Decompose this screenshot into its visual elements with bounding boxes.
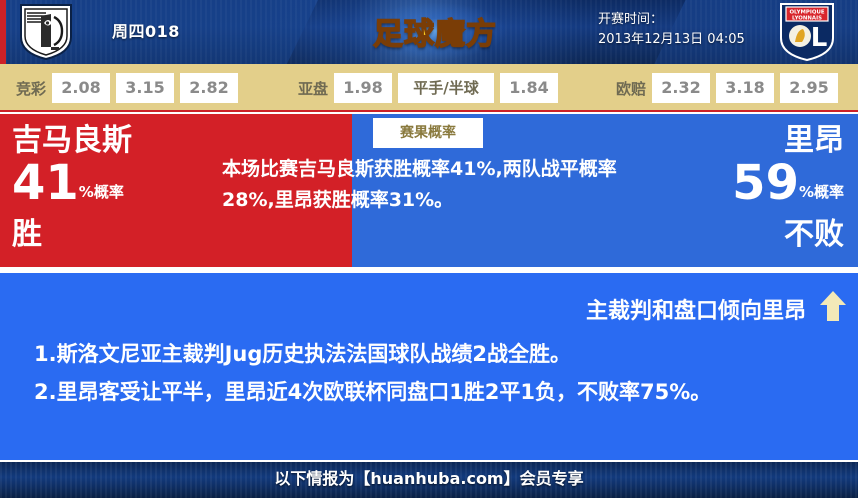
odds-label-yapan: 亚盘 (298, 78, 328, 99)
odds-cell-oupei-away[interactable]: 2.95 (780, 73, 838, 103)
home-probability-value-line: 41%概率 (12, 158, 172, 217)
home-probability-value: 41 (12, 155, 79, 211)
vitoria-guimaraes-crest (18, 3, 74, 61)
insight-line-1: 1.斯洛文尼亚主裁判Jug历史执法法国球队战绩2战全胜。 (34, 335, 824, 373)
arrow-up-icon (818, 290, 848, 322)
kickoff-value: 2013年12月13日 04:05 (598, 30, 774, 50)
brand-logo-text: 足球魔方 (360, 9, 510, 53)
odds-cell-oupei-home[interactable]: 2.32 (652, 73, 710, 103)
probability-description: 本场比赛吉马良斯获胜概率41%,两队战平概率28%,里昂获胜概率31%。 (222, 154, 622, 216)
odds-bottom-divider (0, 110, 858, 112)
odds-cell-oupei-draw[interactable]: 3.18 (716, 73, 774, 103)
insight-line-2: 2.里昂客受让平半，里昂近4次欧联杯同盘口1胜2平1负，不败率75%。 (34, 373, 824, 411)
svg-text:LYONNAIS: LYONNAIS (792, 16, 822, 22)
away-probability-block: 里昂 59%概率 不败 (664, 124, 844, 253)
svg-text:L: L (811, 23, 828, 53)
odds-label-jingcai: 竞彩 (16, 78, 46, 99)
odds-group-jingcai[interactable]: 竞彩 2.08 3.15 2.82 (16, 64, 244, 112)
olympique-lyonnais-crest: OLYMPIQUE LYONNAIS L (778, 2, 836, 62)
odds-cell-jingcai-away[interactable]: 2.82 (180, 73, 238, 103)
odds-cell-jingcai-draw[interactable]: 3.15 (116, 73, 174, 103)
insight-title: 主裁判和盘口倾向里昂 (586, 293, 806, 325)
odds-bar: 竞彩 2.08 3.15 2.82 亚盘 1.98 平手/半球 1.84 欧赔 … (0, 64, 858, 112)
odds-cell-yapan-away[interactable]: 1.84 (500, 73, 558, 103)
tab-result-probability[interactable]: 赛果概率 (373, 118, 483, 148)
home-outcome-label: 胜 (12, 217, 172, 253)
home-probability-unit: %概率 (79, 183, 124, 201)
soccer-prediction-infographic: 周四018 足球魔方 开赛时间： 2013年12月13日 04:05 OLYMP… (0, 0, 858, 498)
odds-cell-jingcai-home[interactable]: 2.08 (52, 73, 110, 103)
insight-body: 1.斯洛文尼亚主裁判Jug历史执法法国球队战绩2战全胜。 2.里昂客受让平半，里… (34, 335, 824, 411)
odds-group-oupei[interactable]: 欧赔 2.32 3.18 2.95 (616, 64, 844, 112)
home-probability-block: 吉马良斯 41%概率 胜 (12, 124, 172, 253)
odds-group-yapan[interactable]: 亚盘 1.98 平手/半球 1.84 (298, 64, 564, 112)
insight-panel: 主裁判和盘口倾向里昂 1.斯洛文尼亚主裁判Jug历史执法法国球队战绩2战全胜。 … (0, 273, 858, 460)
kickoff-label: 开赛时间： (598, 10, 774, 30)
odds-cell-yapan-home[interactable]: 1.98 (334, 73, 392, 103)
match-header: 周四018 足球魔方 开赛时间： 2013年12月13日 04:05 OLYMP… (0, 0, 858, 64)
odds-cell-yapan-handicap[interactable]: 平手/半球 (398, 73, 494, 103)
odds-label-oupei: 欧赔 (616, 78, 646, 99)
kickoff-time: 开赛时间： 2013年12月13日 04:05 (598, 10, 774, 50)
away-probability-unit: %概率 (799, 183, 844, 201)
footer-bar: 以下情报为【huanhuba.com】会员专享 (0, 460, 858, 498)
header-red-edge (0, 0, 6, 64)
home-team-name: 吉马良斯 (12, 124, 172, 158)
away-team-name: 里昂 (664, 124, 844, 158)
brand-logo[interactable]: 足球魔方 (360, 1, 510, 61)
away-outcome-label: 不败 (664, 217, 844, 253)
footer-notice: 以下情报为【huanhuba.com】会员专享 (0, 460, 858, 498)
away-probability-value-line: 59%概率 (664, 158, 844, 217)
match-number: 周四018 (112, 18, 180, 42)
away-probability-value: 59 (732, 155, 799, 211)
